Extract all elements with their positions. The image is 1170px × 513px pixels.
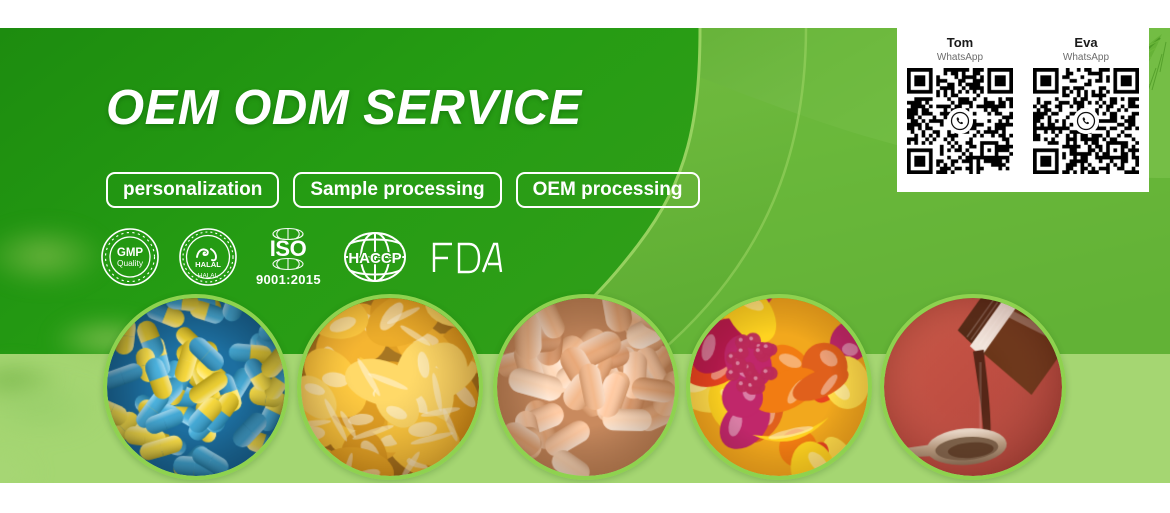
product-circle-softgels[interactable] [297, 294, 483, 480]
product-circle-tablets[interactable] [493, 294, 679, 480]
promo-banner: OEM ODM SERVICE personalization Sample p… [0, 28, 1170, 483]
product-circle-syrup[interactable] [880, 294, 1066, 480]
product-circle-gummies[interactable] [686, 294, 872, 480]
product-circle-row [0, 28, 1170, 483]
banner-stage: OEM ODM SERVICE personalization Sample p… [0, 0, 1170, 513]
product-circle-capsules[interactable] [103, 294, 289, 480]
